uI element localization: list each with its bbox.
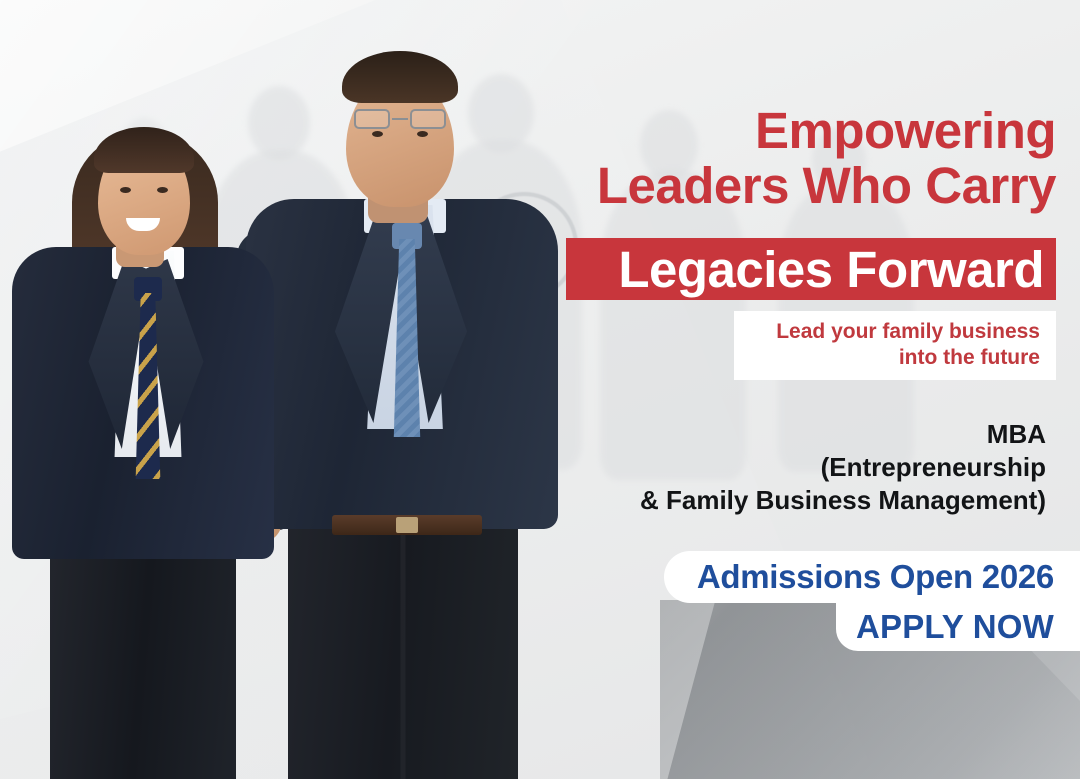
subtitle-line-1: Lead your family business (776, 319, 1040, 345)
program-name: MBA (Entrepreneurship & Family Business … (526, 418, 1046, 516)
subtitle-box: Lead your family business into the futur… (734, 311, 1056, 380)
girl-eye-left (120, 187, 131, 193)
man-eye-right (417, 131, 428, 137)
program-line-1: MBA (526, 418, 1046, 451)
headline-line-1: Empowering (496, 104, 1056, 159)
man-hair (342, 51, 458, 103)
eyeglasses-icon (352, 109, 448, 129)
headline-highlight-text: Legacies Forward (618, 244, 1044, 295)
admissions-open-label: Admissions Open 2026 (697, 558, 1054, 596)
promotional-banner: 85 YEARS (0, 0, 1080, 779)
headline-highlight-bar: Legacies Forward (566, 238, 1056, 300)
man-eye-left (372, 131, 383, 137)
headline-line-2: Leaders Who Carry (496, 159, 1056, 214)
man-suit-jacket (246, 199, 558, 529)
girl-hair-top (94, 127, 194, 173)
admissions-open-banner[interactable]: Admissions Open 2026 (664, 551, 1080, 603)
girl-eye-right (157, 187, 168, 193)
female-student-figure (6, 139, 286, 779)
girl-blazer (12, 247, 274, 559)
man-belt-buckle (396, 517, 418, 533)
apply-now-label: APPLY NOW (856, 608, 1054, 646)
program-line-2: (Entrepreneurship (526, 451, 1046, 484)
subtitle-line-2: into the future (899, 345, 1040, 371)
apply-now-button[interactable]: APPLY NOW (836, 603, 1080, 651)
program-line-3: & Family Business Management) (526, 484, 1046, 517)
headline: Empowering Leaders Who Carry (496, 104, 1056, 213)
